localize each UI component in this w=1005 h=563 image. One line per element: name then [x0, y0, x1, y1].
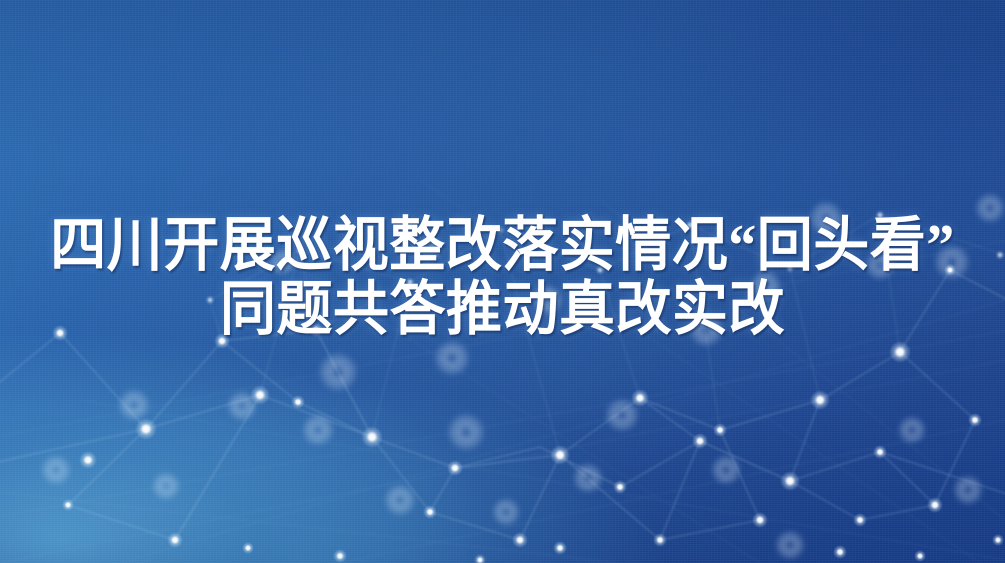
banner-image: 四川开展巡视整改落实情况“回头看” 同题共答推动真改实改	[0, 0, 1005, 563]
background-sheen	[0, 0, 1005, 563]
